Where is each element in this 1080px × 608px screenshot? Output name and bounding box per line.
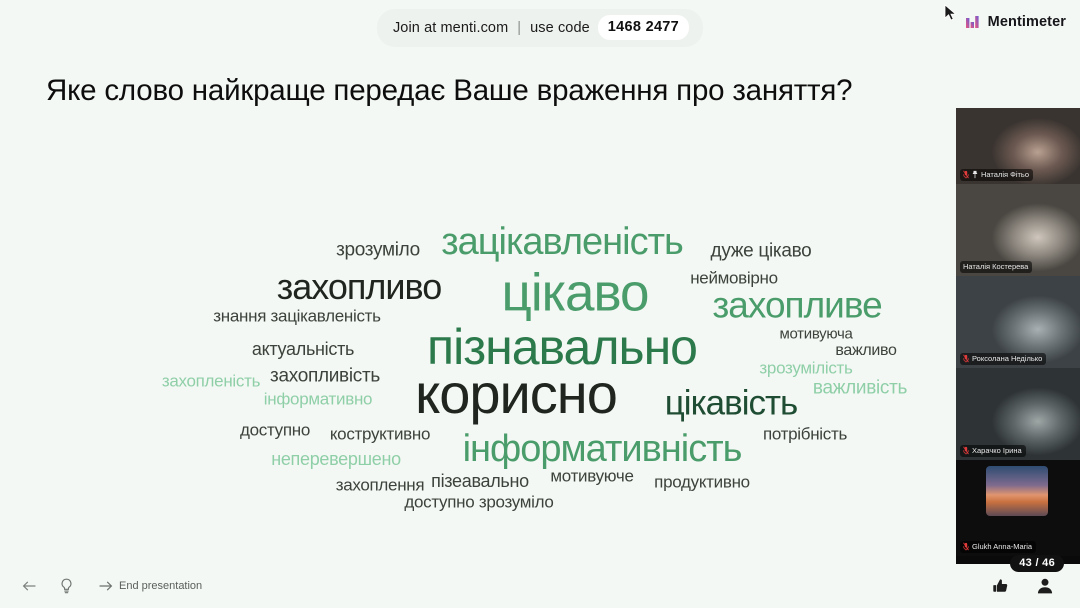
word-cloud-word: доступно зрозуміло <box>404 494 553 511</box>
video-participant-rail[interactable]: Наталія ФітьоНаталія КостереваРоксолана … <box>956 108 1080 564</box>
word-cloud-word: корисно <box>415 366 617 422</box>
back-button[interactable] <box>22 580 36 592</box>
mic-muted-icon <box>963 354 969 363</box>
participant-nametag: Роксолана Неділько <box>960 353 1046 365</box>
participant-name: Харачко Ірина <box>972 446 1022 455</box>
word-cloud-word: актуальність <box>252 340 354 358</box>
presentation-code: 1468 2477 <box>598 15 689 40</box>
join-instructions-pill: Join at menti.com | use code 1468 2477 <box>377 9 703 47</box>
profile-photo <box>986 466 1048 516</box>
word-cloud: зрозумілозацікавленістьдуже цікавозахопл… <box>0 120 960 540</box>
word-cloud-word: інформативність <box>463 430 742 468</box>
mic-muted-icon <box>963 170 969 179</box>
word-cloud-word: інформативно <box>264 391 372 408</box>
word-cloud-word: зацікавленість <box>441 223 683 261</box>
person-icon[interactable] <box>1036 577 1054 595</box>
word-cloud-word: знання зацікавленість <box>213 308 380 325</box>
word-cloud-word: зрозумілість <box>759 360 852 377</box>
video-tile[interactable]: Наталія Костерева <box>956 184 1080 276</box>
word-cloud-word: коструктивно <box>330 426 430 443</box>
video-tile[interactable]: Роксолана Неділько <box>956 276 1080 368</box>
word-cloud-word: важливо <box>835 343 896 359</box>
pin-icon <box>972 170 978 179</box>
word-cloud-word: продуктивно <box>654 474 750 491</box>
mouse-cursor-icon <box>944 4 958 22</box>
mic-muted-icon <box>963 446 969 455</box>
mentimeter-logo: Mentimeter <box>966 14 1066 30</box>
bar-chart-icon <box>966 15 981 30</box>
word-cloud-word: важливість <box>813 379 907 398</box>
word-cloud-word: захопливе <box>712 287 881 324</box>
participant-nametag: Наталія Костерева <box>960 261 1032 273</box>
word-cloud-word: захоплення <box>336 477 425 494</box>
word-cloud-word: неперевершено <box>271 450 401 468</box>
word-cloud-word: цікаво <box>502 267 649 320</box>
end-presentation-label: End presentation <box>119 580 202 592</box>
mic-muted-icon <box>963 542 969 551</box>
thumbs-up-icon[interactable] <box>992 577 1010 595</box>
participant-name: Glukh Anna-Maria <box>972 542 1032 551</box>
word-cloud-word: мотивуюча <box>779 327 852 342</box>
participant-name: Наталія Фітьо <box>981 170 1029 179</box>
word-cloud-word: пізеавально <box>431 472 529 490</box>
word-cloud-word: захопливо <box>277 269 442 305</box>
word-cloud-word: захопливість <box>270 367 380 386</box>
word-cloud-word: потрібність <box>763 426 847 443</box>
word-cloud-word: мотивуюче <box>550 468 633 485</box>
video-tile[interactable]: Наталія Фітьо <box>956 108 1080 184</box>
top-bar: Join at menti.com | use code 1468 2477 <box>0 0 1080 56</box>
join-separator: | <box>517 20 521 36</box>
ideas-button[interactable] <box>60 578 73 594</box>
bottom-toolbar: End presentation <box>0 564 1080 608</box>
participant-name: Роксолана Неділько <box>972 354 1042 363</box>
join-text: Join at menti.com <box>393 20 508 36</box>
video-tile[interactable]: Харачко Ірина <box>956 368 1080 460</box>
word-cloud-word: зрозуміло <box>336 241 420 260</box>
lightbulb-icon <box>60 578 73 594</box>
participant-nametag: Харачко Ірина <box>960 445 1026 457</box>
end-presentation-button[interactable]: End presentation <box>99 580 202 592</box>
word-cloud-word: захопленість <box>162 373 260 390</box>
participant-nametag: Наталія Фітьо <box>960 169 1033 181</box>
participant-counter-badge: 43 / 46 <box>1010 555 1064 572</box>
word-cloud-word: цікавість <box>665 386 798 421</box>
participant-name: Наталія Костерева <box>963 262 1028 271</box>
arrow-right-icon <box>99 580 113 592</box>
word-cloud-word: доступно <box>240 422 310 439</box>
video-tile[interactable]: Glukh Anna-Maria <box>956 460 1080 556</box>
brand-name: Mentimeter <box>988 14 1066 30</box>
arrow-left-icon <box>22 580 36 592</box>
participant-nametag: Glukh Anna-Maria <box>960 541 1036 553</box>
use-code-text: use code <box>530 20 590 36</box>
word-cloud-word: дуже цікаво <box>711 242 812 261</box>
page-title: Яке слово найкраще передає Ваше враження… <box>46 74 1046 108</box>
